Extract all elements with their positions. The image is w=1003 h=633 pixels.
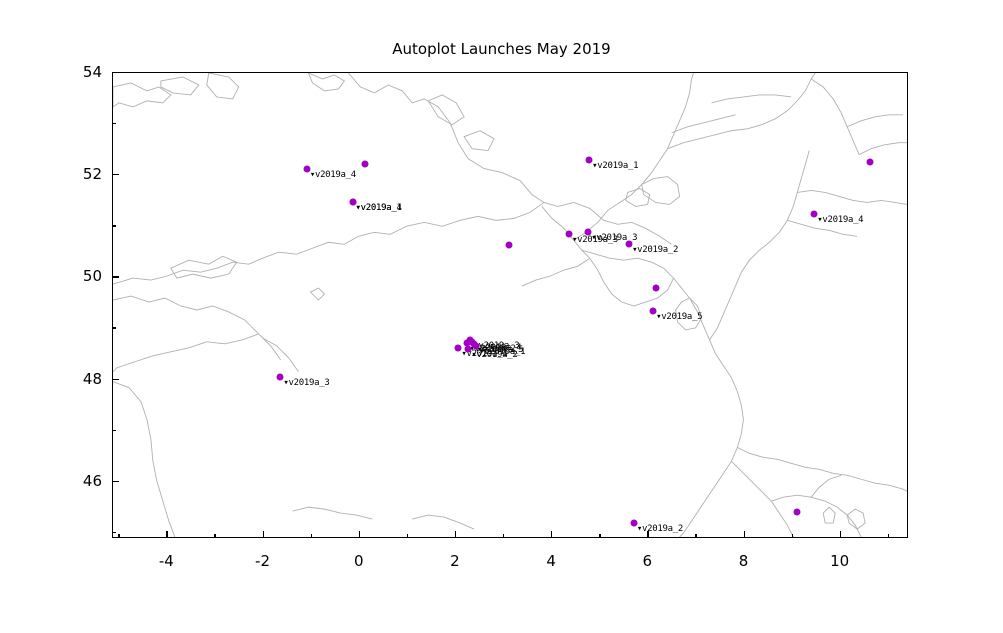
x-tick-major (744, 531, 745, 538)
x-tick-minor (311, 534, 312, 538)
data-point (505, 242, 512, 249)
figure-canvas: Autoplot Launches May 2019 (0, 0, 1003, 633)
x-tick-label: 4 (546, 552, 556, 570)
data-point-label: ▾v2019a_2 (471, 350, 517, 360)
x-tick-label: 2 (450, 552, 460, 570)
y-tick-minor (112, 123, 116, 124)
y-tick-label: 54 (62, 63, 102, 81)
y-tick-label: 48 (62, 370, 102, 388)
x-tick-minor (118, 534, 119, 538)
x-tick-minor (792, 534, 793, 538)
data-point (866, 159, 873, 166)
data-point-label: ▾v2019a_4 (310, 170, 356, 180)
x-tick-major (840, 531, 841, 538)
x-tick-label: 6 (643, 552, 653, 570)
data-point-label: ▾v2019a_5 (656, 312, 702, 322)
data-point (794, 509, 801, 516)
x-tick-major (166, 531, 167, 538)
x-tick-label: -2 (255, 552, 270, 570)
y-tick-major (112, 379, 119, 380)
x-tick-label: 10 (830, 552, 849, 570)
x-tick-minor (214, 534, 215, 538)
data-point-layer: ▾v2019a_4▾v2019a_4▾v2019a_1▾v2019a_3▾v20… (113, 73, 907, 537)
y-tick-label: 50 (62, 267, 102, 285)
data-point (652, 284, 659, 291)
x-tick-minor (599, 534, 600, 538)
x-tick-major (647, 531, 648, 538)
data-point-label: ▾v2019a_4 (817, 215, 863, 225)
x-tick-label: -4 (159, 552, 174, 570)
x-tick-minor (888, 534, 889, 538)
chart-title: Autoplot Launches May 2019 (0, 40, 1003, 58)
map-plot-area[interactable]: ▾v2019a_4▾v2019a_4▾v2019a_1▾v2019a_3▾v20… (112, 72, 908, 538)
y-tick-label: 46 (62, 472, 102, 490)
y-tick-minor (112, 430, 116, 431)
x-tick-major (263, 531, 264, 538)
x-tick-major (551, 531, 552, 538)
y-tick-minor (112, 327, 116, 328)
x-tick-major (359, 531, 360, 538)
y-tick-major (112, 276, 119, 277)
x-tick-label: 8 (739, 552, 749, 570)
y-tick-minor (112, 532, 116, 533)
data-point (361, 160, 368, 167)
x-tick-minor (695, 534, 696, 538)
x-tick-minor (407, 534, 408, 538)
y-tick-major (112, 72, 119, 73)
data-point-label: ▾v2019a_3 (283, 378, 329, 388)
y-tick-minor (112, 225, 116, 226)
data-point-label: ▾v2019a_1 (356, 203, 402, 213)
x-tick-label: 0 (354, 552, 364, 570)
data-point-label: ▾v2019a_2 (637, 524, 683, 534)
y-tick-label: 52 (62, 165, 102, 183)
x-tick-minor (503, 534, 504, 538)
data-point-label: ▾v2019a_2 (632, 245, 678, 255)
data-point-label: ▾v2019a_1 (592, 161, 638, 171)
y-tick-major (112, 174, 119, 175)
y-tick-major (112, 481, 119, 482)
x-tick-major (455, 531, 456, 538)
